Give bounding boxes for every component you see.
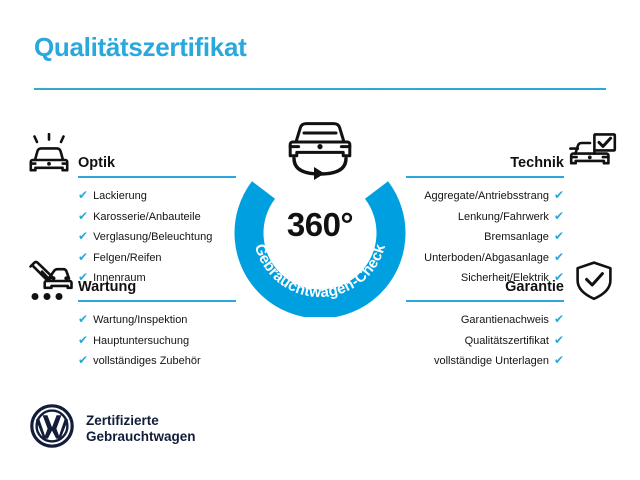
list-item: Qualitätszertifikat✔ (406, 331, 564, 352)
check-icon: ✔ (78, 186, 88, 206)
car-shine-icon (24, 133, 74, 182)
section-optik: Optik ✔Lackierung ✔Karosserie/Anbauteile… (78, 148, 236, 289)
list-item: Garantienachweis✔ (406, 310, 564, 331)
list-item-label: Qualitätszertifikat (465, 332, 549, 352)
list-item-label: Lackierung (93, 187, 147, 207)
check-icon: ✔ (78, 207, 88, 227)
list-item-label: Aggregate/Antriebsstrang (424, 187, 549, 207)
list-item-label: Bremsanlage (484, 228, 549, 248)
section-title: Optik (78, 155, 115, 171)
section-underline (78, 176, 236, 178)
footer-brand: Zertifizierte Gebrauchtwagen (30, 404, 196, 453)
section-underline (406, 176, 564, 178)
check-icon: ✔ (78, 227, 88, 247)
list-item-label: Hauptuntersuchung (93, 332, 189, 352)
list-item: ✔vollständiges Zubehör (78, 351, 236, 372)
list-item-label: Karosserie/Anbauteile (93, 208, 201, 228)
list-item-label: vollständige Unterlagen (434, 352, 549, 372)
list-item: Bremsanlage✔ (406, 227, 564, 248)
check-icon: ✔ (78, 331, 88, 351)
vw-logo-icon (30, 404, 74, 453)
check-icon: ✔ (78, 248, 88, 268)
list-item: ✔Hauptuntersuchung (78, 331, 236, 352)
title-divider (34, 88, 606, 90)
check-icon: ✔ (78, 351, 88, 371)
section-title: Garantie (505, 279, 564, 295)
check-icon: ✔ (78, 310, 88, 330)
section-underline (78, 300, 236, 302)
section-title: Technik (510, 155, 564, 171)
check-icon: ✔ (554, 310, 564, 330)
list-item-label: Felgen/Reifen (93, 249, 162, 269)
section-underline (406, 300, 564, 302)
section-garantie: Garantie Garantienachweis✔ Qualitätszert… (406, 272, 564, 372)
section-wartung: Wartung ✔Wartung/Inspektion ✔Hauptunters… (78, 272, 236, 372)
list-item-label: Wartung/Inspektion (93, 311, 187, 331)
gebrauchtwagen-check-badge: Gebrauchtwagen-Check 360° (233, 143, 407, 317)
check-icon: ✔ (554, 207, 564, 227)
footer-text: Zertifizierte Gebrauchtwagen (86, 413, 196, 445)
car-rotate-360-icon (274, 112, 366, 184)
section-technik: Technik Aggregate/Antriebsstrang✔ Lenkun… (406, 148, 564, 289)
certificate-sheet: Qualitätszertifikat Optik ✔Lackierung ✔K… (0, 0, 640, 480)
page-title: Qualitätszertifikat (34, 32, 246, 63)
list-item: vollständige Unterlagen✔ (406, 351, 564, 372)
list-item-label: Lenkung/Fahrwerk (458, 208, 549, 228)
footer-line-1: Zertifizierte (86, 413, 196, 429)
check-icon: ✔ (554, 351, 564, 371)
car-service-wrench-icon (24, 258, 74, 310)
check-icon: ✔ (554, 248, 564, 268)
list-item-label: Unterboden/Abgasanlage (424, 249, 549, 269)
list-item-label: vollständiges Zubehör (93, 352, 201, 372)
list-item: ✔Verglasung/Beleuchtung (78, 227, 236, 248)
list-item-label: Garantienachweis (461, 311, 549, 331)
list-item: ✔Lackierung (78, 186, 236, 207)
check-icon: ✔ (554, 227, 564, 247)
section-title: Wartung (78, 279, 136, 295)
list-item: ✔Wartung/Inspektion (78, 310, 236, 331)
car-checkbox-icon (566, 131, 618, 180)
list-item: ✔Felgen/Reifen (78, 248, 236, 269)
list-item: Unterboden/Abgasanlage✔ (406, 248, 564, 269)
shield-check-icon (572, 259, 616, 308)
check-icon: ✔ (554, 186, 564, 206)
check-icon: ✔ (554, 331, 564, 351)
footer-line-2: Gebrauchtwagen (86, 429, 196, 445)
list-item: Lenkung/Fahrwerk✔ (406, 207, 564, 228)
list-item: ✔Karosserie/Anbauteile (78, 207, 236, 228)
list-item-label: Verglasung/Beleuchtung (93, 228, 212, 248)
list-item: Aggregate/Antriebsstrang✔ (406, 186, 564, 207)
